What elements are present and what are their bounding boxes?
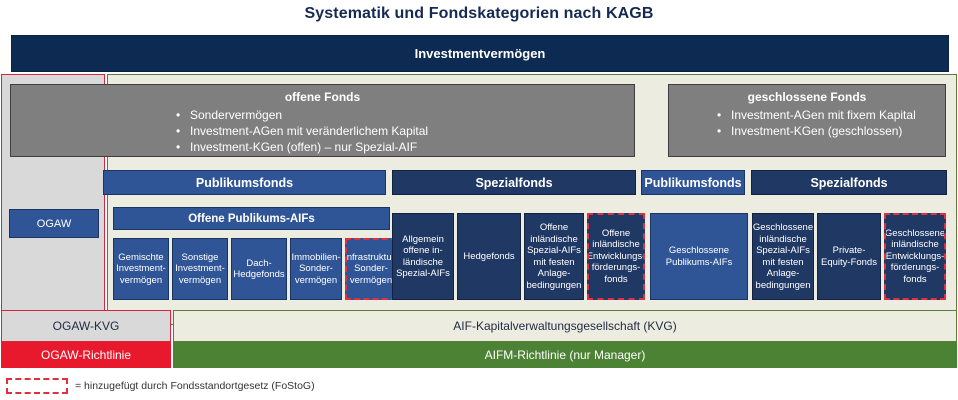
list-item-label: Investment-AGen mit veränderlichem Kapit… (190, 124, 428, 138)
box-geschlossene-fonds: geschlossene Fonds •Investment-AGen mit … (668, 84, 946, 157)
band-label: Publikumsfonds (196, 176, 293, 190)
leaf-label: Offene inländische Spezial-AIFs mit fest… (526, 222, 582, 291)
list-item-label: Investment-KGen (geschlossen) (731, 124, 902, 138)
row-ogaw-kvg: OGAW-KVG (1, 310, 171, 342)
list-item: •Investment-KGen (offen) – nur Spezial-A… (176, 139, 634, 155)
leaf-geschlossene-publikums-aifs: Geschlossene Publikums-AIFs (650, 213, 748, 300)
leaf-private-equity-fonds: Private-Equity-Fonds (817, 213, 881, 300)
page-title: Systematik und Fondskategorien nach KAGB (0, 5, 958, 23)
list-item-label: Sondervermögen (190, 108, 282, 122)
offene-fonds-list: •Sondervermögen •Investment-AGen mit ver… (176, 107, 634, 155)
leaf-label: Geschlossene Publikums-AIFs (652, 245, 746, 268)
row-ogaw-richtlinie-label: OGAW-Richtlinie (41, 348, 131, 362)
leaf-allgemein-offene-inlaendische-spezial-aifs: Allgemein offene in-ländische Spezial-AI… (392, 213, 454, 300)
band-label: Publikumsfonds (644, 176, 741, 190)
leaf-geschlossene-inlaendische-entwicklungsfoerderungsfonds: Geschlossene inländische Entwicklungs-fö… (884, 213, 946, 300)
leaf-label: Infrastruktur-Sonder-vermögen (345, 252, 397, 287)
bullet-icon: • (717, 107, 731, 123)
leaf-sonstige-investmentvermoegen: Sonstige Investment-vermögen (172, 238, 228, 300)
leaf-geschlossene-inlaendische-spezial-aifs-feste-anlagebedingungen: Geschlossene inländische Spezial-AIFs mi… (752, 213, 814, 300)
bullet-icon: • (717, 123, 731, 139)
leaf-label: Allgemein offene in-ländische Spezial-AI… (394, 234, 452, 280)
row-ogaw-kvg-label: OGAW-KVG (53, 319, 120, 333)
leaf-immobilien-sondervermoegen: Immobilien-Sonder-vermögen (290, 238, 342, 300)
band-label: Spezialfonds (475, 176, 552, 190)
band-spezialfonds-closed: Spezialfonds (751, 170, 947, 195)
bullet-icon: • (176, 139, 190, 155)
row-aif-kvg: AIF-Kapitalverwaltungsgesellschaft (KVG) (173, 310, 957, 342)
list-item: •Investment-AGen mit veränderlichem Kapi… (176, 123, 634, 139)
legend: = hinzugefügt durch Fondsstandortgesetz … (6, 378, 315, 394)
box-offene-publikums-aifs-label: Offene Publikums-AIFs (188, 213, 315, 225)
leaf-label: Offene inländische Entwicklungs-förderun… (587, 228, 645, 286)
list-item-label: Investment-KGen (offen) – nur Spezial-AI… (190, 140, 417, 154)
bullet-icon: • (176, 123, 190, 139)
band-spezialfonds-open: Spezialfonds (392, 170, 636, 195)
row-aifm-richtlinie-label: AIFM-Richtlinie (nur Manager) (485, 348, 646, 362)
band-investmentvermoegen: Investmentvermögen (11, 35, 949, 72)
diagram-canvas: Systematik und Fondskategorien nach KAGB… (0, 0, 958, 400)
legend-label: = hinzugefügt durch Fondsstandortgesetz … (75, 380, 315, 392)
box-offene-fonds: offene Fonds •Sondervermögen •Investment… (10, 84, 635, 157)
offene-fonds-heading: offene Fonds (11, 90, 634, 104)
row-ogaw-richtlinie: OGAW-Richtlinie (1, 342, 171, 368)
leaf-offene-inlaendische-spezial-aifs-feste-anlagebedingungen: Offene inländische Spezial-AIFs mit fest… (524, 213, 584, 300)
band-investmentvermoegen-label: Investmentvermögen (415, 46, 546, 61)
leaf-label: Geschlossene inländische Entwicklungs-fö… (885, 228, 945, 286)
band-publikumsfonds-closed: Publikumsfonds (641, 170, 745, 195)
leaf-offene-inlaendische-entwicklungsfoerderungsfonds: Offene inländische Entwicklungs-förderun… (587, 213, 645, 300)
box-ogaw: OGAW (9, 209, 99, 238)
leaf-dach-hedgefonds: Dach-Hedgefonds (231, 238, 287, 300)
box-offene-publikums-aifs: Offene Publikums-AIFs (113, 207, 390, 230)
leaf-label: Gemischte Investment-vermögen (115, 252, 167, 287)
box-ogaw-label: OGAW (37, 218, 71, 230)
list-item-label: Investment-AGen mit fixem Kapital (731, 108, 916, 122)
list-item: •Investment-AGen mit fixem Kapital (717, 107, 945, 123)
leaf-label: Hedgefonds (463, 251, 514, 263)
leaf-label: Geschlossene inländische Spezial-AIFs mi… (753, 222, 813, 291)
band-publikumsfonds-open: Publikumsfonds (103, 170, 386, 195)
leaf-label: Dach-Hedgefonds (233, 258, 285, 281)
leaf-infrastruktur-sondervermoegen: Infrastruktur-Sonder-vermögen (345, 238, 397, 300)
geschlossene-fonds-heading: geschlossene Fonds (669, 90, 945, 104)
row-aif-kvg-label: AIF-Kapitalverwaltungsgesellschaft (KVG) (453, 319, 676, 333)
band-label: Spezialfonds (810, 176, 887, 190)
row-aifm-richtlinie: AIFM-Richtlinie (nur Manager) (173, 342, 957, 368)
leaf-label: Sonstige Investment-vermögen (174, 252, 226, 287)
leaf-hedgefonds: Hedgefonds (457, 213, 521, 300)
legend-dashed-swatch (6, 378, 68, 394)
list-item: •Sondervermögen (176, 107, 634, 123)
leaf-label: Private-Equity-Fonds (819, 245, 879, 268)
bullet-icon: • (176, 107, 190, 123)
leaf-label: Immobilien-Sonder-vermögen (291, 252, 340, 287)
leaf-gemischte-investmentvermoegen: Gemischte Investment-vermögen (113, 238, 169, 300)
list-item: •Investment-KGen (geschlossen) (717, 123, 945, 139)
geschlossene-fonds-list: •Investment-AGen mit fixem Kapital •Inve… (717, 107, 945, 139)
